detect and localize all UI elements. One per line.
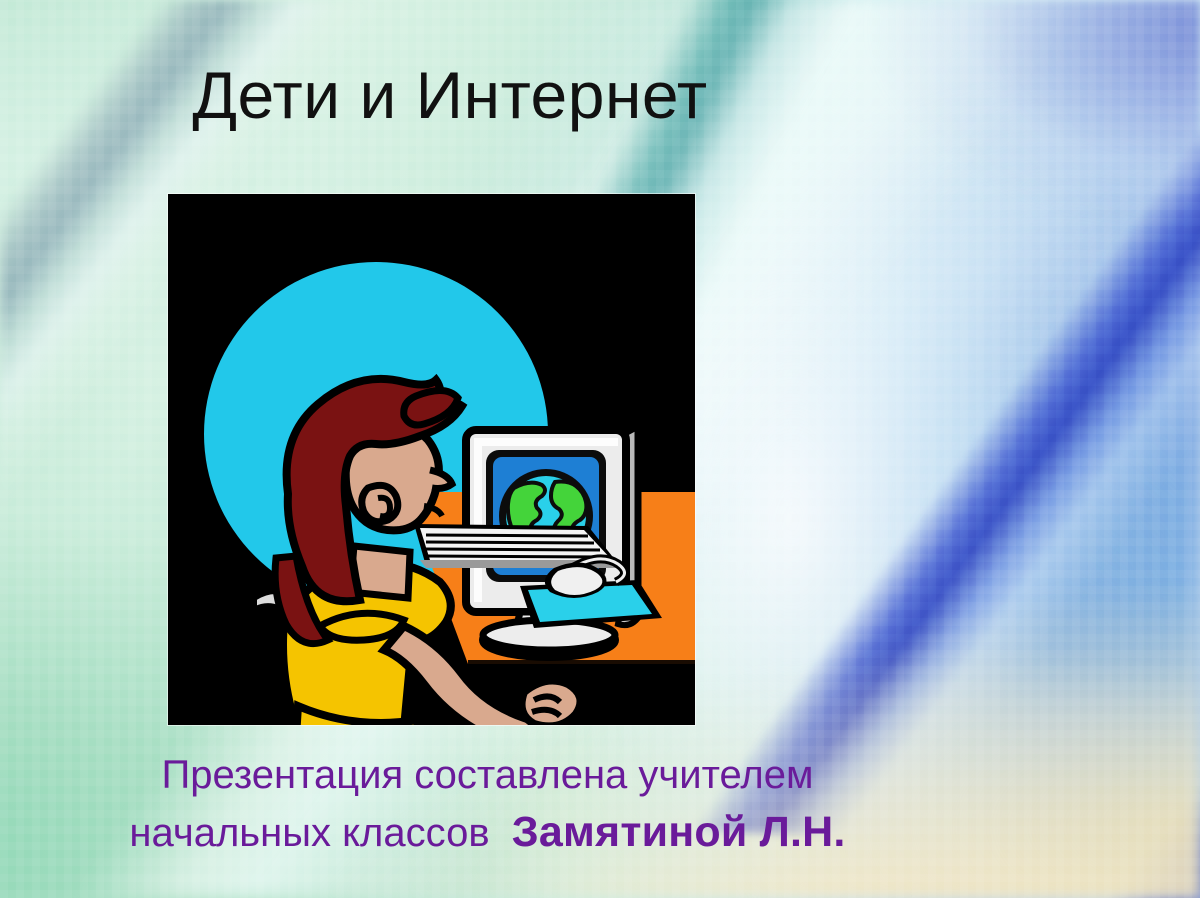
slide-title: Дети и Интернет: [0, 62, 900, 128]
presentation-slide: Дети и Интернет: [0, 0, 1200, 898]
boy-collar: [320, 613, 404, 640]
subtitle-line-1: Презентация составлена учителем: [0, 748, 975, 803]
boy-hand: [522, 680, 581, 725]
slide-subtitle: Презентация составлена учителем начальны…: [0, 748, 975, 863]
subtitle-author: Замятиной Л.Н.: [512, 808, 846, 856]
clipart-boy-at-computer: [168, 194, 695, 725]
subtitle-line-2-prefix: начальных классов: [129, 811, 489, 855]
subtitle-line-2: начальных классов Замятиной Л.Н.: [0, 803, 975, 862]
